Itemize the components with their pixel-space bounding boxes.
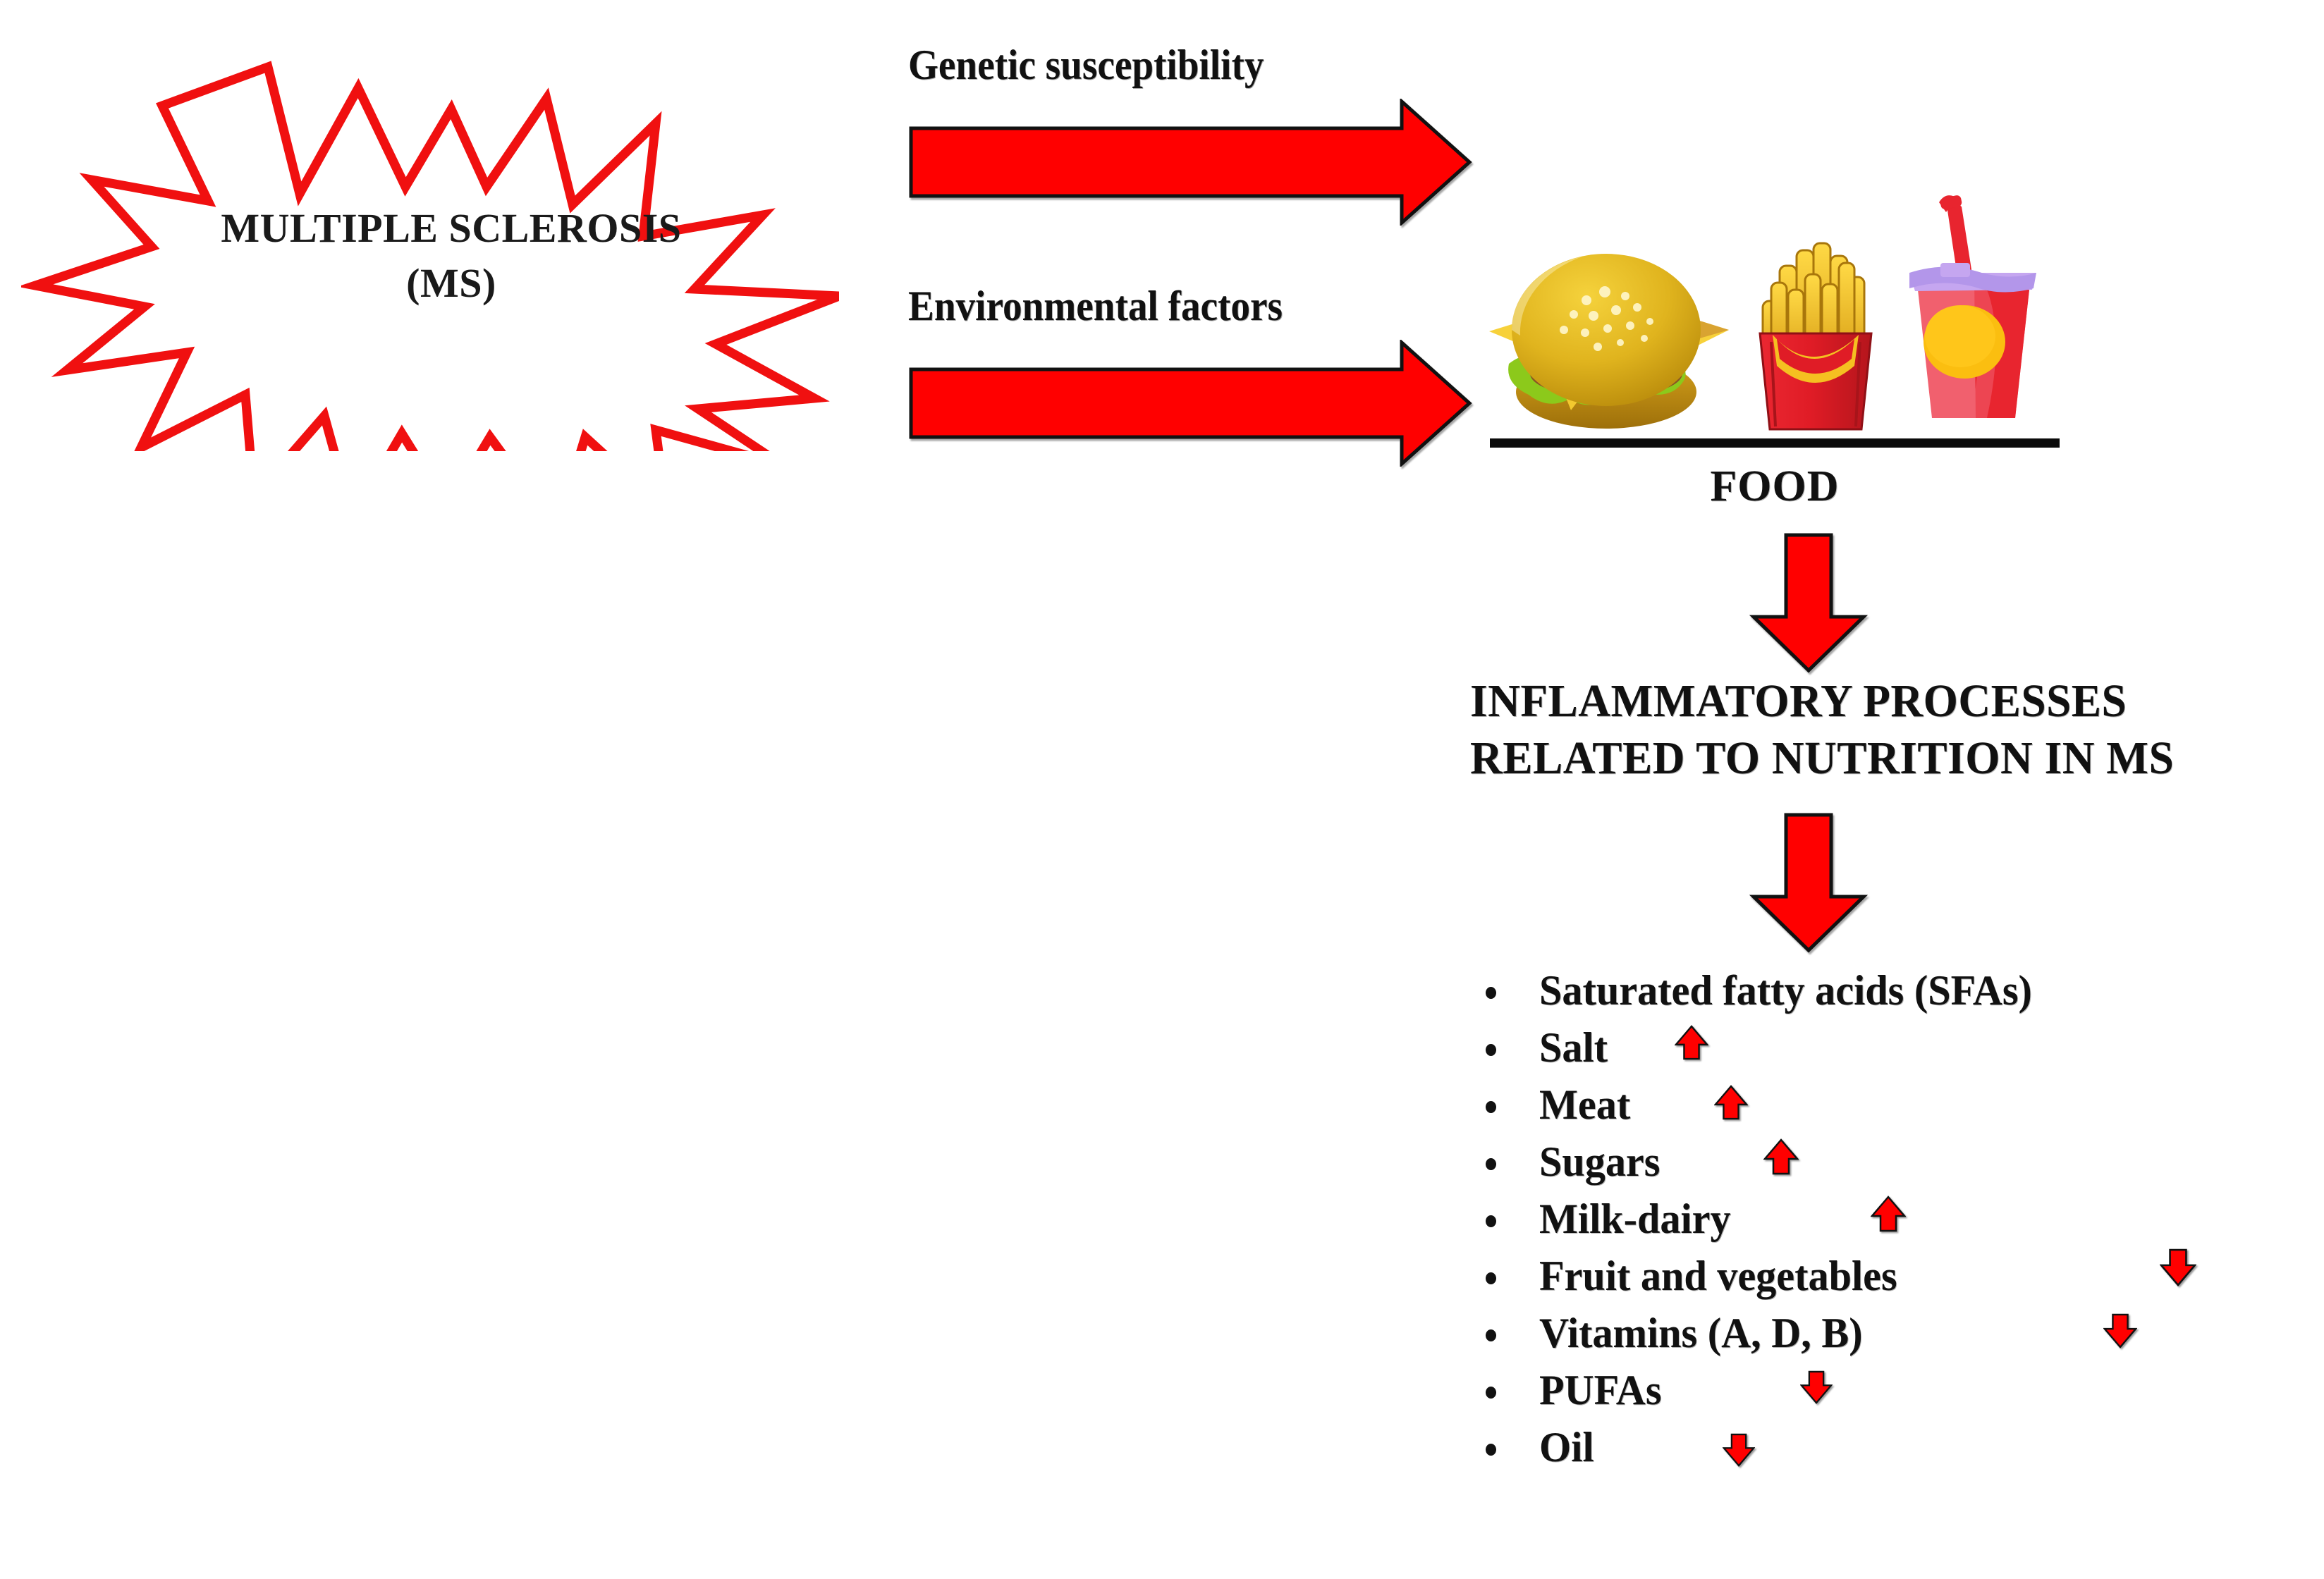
nutrient-label: Oil — [1539, 1423, 1594, 1473]
genetic-susceptibility-arrow-icon — [908, 99, 1472, 226]
nutrient-list: Saturated fatty acids (SFAs)SaltMeatSuga… — [1470, 966, 2323, 1480]
environmental-factors-label: Environmental factors — [908, 282, 1283, 331]
starburst-label-line1: MULTIPLE SCLEROSIS — [99, 201, 804, 256]
fries-icon — [1756, 222, 1876, 434]
trend-down-arrow-icon — [1723, 1415, 1755, 1485]
trend-down-arrow-icon — [1800, 1353, 1833, 1422]
environmental-factors-arrow-icon — [908, 340, 1472, 467]
food-illustrations — [1474, 173, 2059, 469]
inflammatory-heading-line2: RELATED TO NUTRITION IN MS — [1470, 730, 2289, 787]
inflammatory-processes-heading: INFLAMMATORY PROCESSES RELATED TO NUTRIT… — [1470, 673, 2289, 787]
nutrient-label: Salt — [1539, 1023, 1608, 1073]
multiple-sclerosis-starburst: MULTIPLE SCLEROSIS (MS) — [21, 14, 839, 451]
trend-up-arrow-icon — [1675, 1007, 1708, 1078]
nutrient-label: Saturated fatty acids (SFAs) — [1539, 966, 2032, 1016]
starburst-label: MULTIPLE SCLEROSIS (MS) — [99, 201, 804, 312]
nutrient-row: PUFAs — [1470, 1365, 2323, 1423]
nutrient-label: Milk-dairy — [1539, 1194, 1731, 1244]
burger-icon — [1481, 226, 1742, 444]
food-to-inflammation-arrow-icon — [1745, 532, 1872, 673]
food-label: FOOD — [1490, 462, 2060, 512]
nutrient-row: Oil — [1470, 1423, 2323, 1480]
trend-up-arrow-icon — [1714, 1067, 1748, 1138]
nutrient-row: Salt — [1470, 1023, 2323, 1080]
bullet-dot-icon — [1486, 1158, 1496, 1170]
inflammation-to-nutrients-arrow-icon — [1745, 812, 1872, 953]
nutrient-label: Meat — [1539, 1080, 1630, 1130]
bullet-dot-icon — [1486, 1044, 1496, 1056]
drink-cup-icon — [1897, 173, 2048, 434]
bullet-dot-icon — [1486, 1215, 1496, 1227]
nutrient-label: Fruit and vegetables — [1539, 1251, 1897, 1301]
nutrient-row: Saturated fatty acids (SFAs) — [1470, 966, 2323, 1023]
nutrient-label: Sugars — [1539, 1137, 1660, 1187]
bullet-dot-icon — [1486, 1444, 1496, 1456]
bullet-dot-icon — [1486, 1329, 1496, 1341]
bullet-dot-icon — [1486, 1101, 1496, 1113]
nutrient-row: Vitamins (A, D, B) — [1470, 1308, 2323, 1365]
genetic-susceptibility-label: Genetic susceptibility — [908, 41, 1264, 90]
nutrient-row: Fruit and vegetables — [1470, 1251, 2323, 1308]
bullet-dot-icon — [1486, 1387, 1496, 1399]
food-underline — [1490, 438, 2060, 448]
bullet-dot-icon — [1486, 1272, 1496, 1284]
bullet-dot-icon — [1486, 987, 1496, 999]
nutrient-row: Meat — [1470, 1080, 2323, 1137]
trend-down-arrow-icon — [2103, 1296, 2137, 1366]
nutrient-label: PUFAs — [1539, 1365, 1661, 1415]
trend-up-arrow-icon — [1871, 1179, 1906, 1249]
nutrient-label: Vitamins (A, D, B) — [1539, 1308, 1863, 1358]
trend-up-arrow-icon — [1763, 1122, 1799, 1192]
trend-down-arrow-icon — [2160, 1231, 2196, 1303]
inflammatory-heading-line1: INFLAMMATORY PROCESSES — [1470, 673, 2289, 730]
starburst-label-line2: (MS) — [99, 256, 804, 311]
